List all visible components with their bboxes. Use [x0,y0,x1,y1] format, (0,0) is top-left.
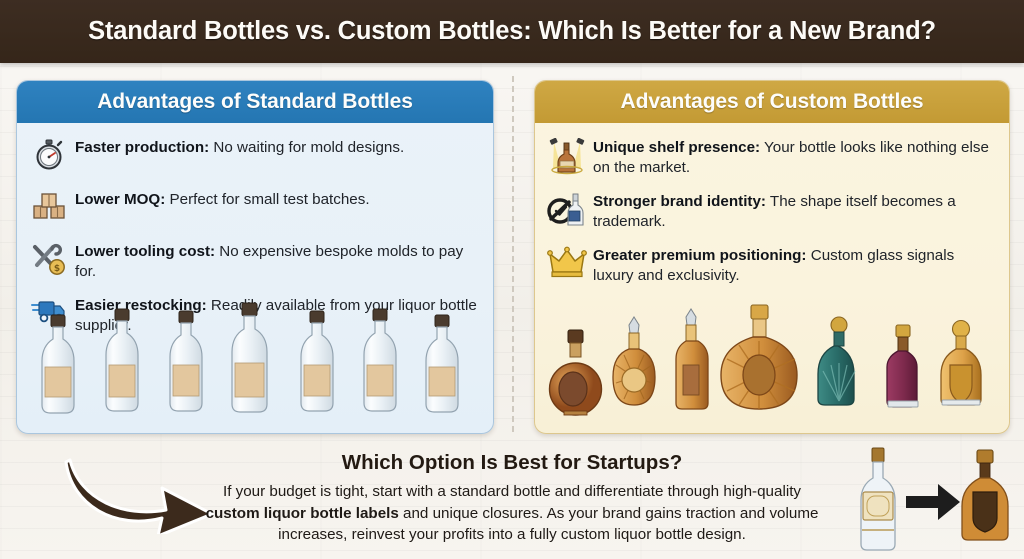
list-item-text: Faster production: No waiting for mold d… [75,137,404,158]
footer-paragraph: If your budget is tight, start with a st… [198,481,826,546]
infographic-page: Standard Bottles vs. Custom Bottles: Whi… [0,0,1024,559]
panel-custom-heading: Advantages of Custom Bottles [621,90,924,114]
page-title: Standard Bottles vs. Custom Bottles: Whi… [88,17,936,46]
panel-standard-heading: Advantages of Standard Bottles [97,90,413,114]
standard-to-custom-bottle-arrow-icon [838,444,1024,556]
tools-cost-icon: $ [29,241,69,280]
list-item-body: Perfect for small test batches. [165,191,369,208]
list-item-text: Greater premium positioning: Custom glas… [593,245,993,286]
list-item-lead: Stronger brand identity: [593,193,766,210]
panel-divider [512,76,514,432]
list-item-text: Lower tooling cost: No expensive bespoke… [75,241,477,282]
page-title-bar: Standard Bottles vs. Custom Bottles: Whi… [0,0,1024,63]
list-item: $ Lower tooling cost: No expensive bespo… [29,241,477,282]
list-item-text: Lower MOQ: Perfect for small test batche… [75,189,370,210]
panel-custom-header: Advantages of Custom Bottles [535,81,1009,123]
list-item-lead: Lower tooling cost: [75,243,215,260]
list-item-text: Stronger brand identity: The shape itsel… [593,191,993,232]
footer-paragraph-bold: custom liquor bottle labels [206,505,399,522]
list-item-body: No waiting for mold designs. [209,139,404,156]
list-item-text: Unique shelf presence: Your bottle looks… [593,137,993,178]
spotlight-bottle-icon [547,137,587,176]
list-item: Lower MOQ: Perfect for small test batche… [29,189,477,228]
panel-standard-header: Advantages of Standard Bottles [17,81,493,123]
boxes-icon [29,189,69,228]
list-item-lead: Lower MOQ: [75,191,165,208]
svg-text:$: $ [54,264,60,274]
stopwatch-icon [29,137,69,176]
list-item: Stronger brand identity: The shape itsel… [547,191,993,232]
footer-paragraph-part1: If your budget is tight, start with a st… [223,483,801,500]
panel-standard-bottles: Advantages of Standard Bottles Faster pr… [16,80,494,434]
crown-icon [547,245,587,284]
standard-bottles-illustration [17,301,493,433]
list-item-lead: Greater premium positioning: [593,247,807,264]
brand-identity-bottle-icon [547,191,587,230]
list-item: Greater premium positioning: Custom glas… [547,245,993,286]
list-item-lead: Unique shelf presence: [593,139,760,156]
custom-bottles-illustration [535,301,1009,433]
list-item-lead: Faster production: [75,139,209,156]
panel-custom-bottles: Advantages of Custom Bottles [534,80,1010,434]
panel-custom-bullet-list: Unique shelf presence: Your bottle looks… [535,123,1009,286]
list-item: Faster production: No waiting for mold d… [29,137,477,176]
list-item: Unique shelf presence: Your bottle looks… [547,137,993,178]
